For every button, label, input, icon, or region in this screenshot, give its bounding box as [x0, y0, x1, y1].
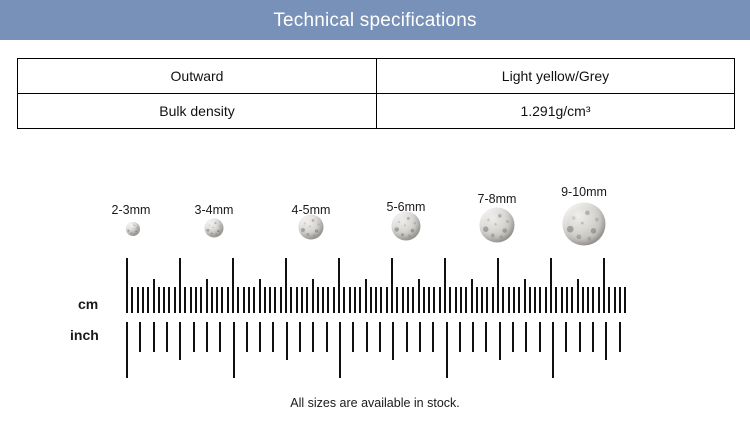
- ruler-tick-cm: [418, 279, 420, 313]
- table-row: Outward Light yellow/Grey: [18, 59, 735, 94]
- ruler-tick-cm: [513, 287, 515, 313]
- ruler-tick-inch: [472, 322, 474, 352]
- ruler-tick-cm: [190, 287, 192, 313]
- spec-label-bulk-density: Bulk density: [18, 94, 377, 129]
- ruler-tick-cm: [338, 258, 340, 313]
- ruler-tick-cm: [455, 287, 457, 313]
- ruler-tick-cm: [375, 287, 377, 313]
- ruler-tick-cm: [550, 258, 552, 313]
- ruler-tick-cm: [412, 287, 414, 313]
- ruler-tick-cm: [248, 287, 250, 313]
- ruler-tick-cm: [571, 287, 573, 313]
- spec-label-outward: Outward: [18, 59, 377, 94]
- ruler-unit-label-inch: inch: [70, 328, 99, 342]
- spec-value-bulk-density: 1.291g/cm³: [377, 94, 735, 129]
- ruler-tick-cm: [206, 279, 208, 313]
- ruler-tick-cm: [232, 258, 234, 313]
- ruler-tick-cm: [555, 287, 557, 313]
- table-row: Bulk density 1.291g/cm³: [18, 94, 735, 129]
- ruler-tick-cm: [322, 287, 324, 313]
- ruler-tick-inch: [485, 322, 487, 352]
- ruler-tick-cm: [179, 258, 181, 313]
- ruler-tick-cm: [158, 287, 160, 313]
- ruler-tick-inch: [565, 322, 567, 352]
- ruler-tick-cm: [444, 258, 446, 313]
- ruler-tick-inch: [605, 322, 607, 360]
- ruler-tick-cm: [433, 287, 435, 313]
- ruler-tick-cm: [211, 287, 213, 313]
- ruler-tick-cm: [428, 287, 430, 313]
- ruler-tick-cm: [253, 287, 255, 313]
- ruler-tick-cm: [492, 287, 494, 313]
- ruler-tick-cm: [423, 287, 425, 313]
- ruler-tick-cm: [476, 287, 478, 313]
- ruler-tick-cm: [407, 287, 409, 313]
- ruler-tick-cm: [184, 287, 186, 313]
- ruler-tick-cm: [449, 287, 451, 313]
- figure-caption: All sizes are available in stock.: [0, 396, 750, 410]
- ruler-tick-inch: [459, 322, 461, 352]
- ruler-tick-inch: [272, 322, 274, 352]
- ruler-tick-inch: [219, 322, 221, 352]
- ruler-tick-cm: [614, 287, 616, 313]
- ruler-tick-cm: [163, 287, 165, 313]
- ruler-tick-inch: [419, 322, 421, 352]
- ruler-tick-cm: [497, 258, 499, 313]
- ruler-tick-inch: [246, 322, 248, 352]
- ruler-tick-cm: [264, 287, 266, 313]
- ruler-tick-inch: [299, 322, 301, 352]
- ruler-tick-cm: [126, 258, 128, 313]
- ruler-tick-cm: [439, 287, 441, 313]
- spec-value-outward: Light yellow/Grey: [377, 59, 735, 94]
- ruler-tick-cm: [147, 287, 149, 313]
- ruler-tick-inch: [153, 322, 155, 352]
- ruler-tick-inch: [525, 322, 527, 352]
- ruler-tick-cm: [508, 287, 510, 313]
- ruler-tick-cm: [545, 287, 547, 313]
- ruler-tick-inch: [579, 322, 581, 352]
- ruler-tick-cm: [296, 287, 298, 313]
- ruler-tick-cm: [359, 287, 361, 313]
- page-header: Technical specifications: [0, 0, 750, 40]
- ruler-tick-cm: [327, 287, 329, 313]
- ruler-tick-cm: [243, 287, 245, 313]
- ruler-tick-cm: [259, 279, 261, 313]
- ruler-tick-inch: [352, 322, 354, 352]
- ruler-tick-cm: [460, 287, 462, 313]
- ruler-tick-cm: [354, 287, 356, 313]
- specifications-table-body: Outward Light yellow/Grey Bulk density 1…: [18, 59, 735, 129]
- ruler-tick-cm: [343, 287, 345, 313]
- ruler-tick-cm: [280, 287, 282, 313]
- ruler-tick-inch: [193, 322, 195, 352]
- size-comparison-figure: 2-3mm 3-4mm 4-5mm 5-6mm 7-8mm 9-10mm cm …: [0, 150, 750, 400]
- ruler-tick-inch: [379, 322, 381, 352]
- ruler-tick-cm: [317, 287, 319, 313]
- ruler-tick-cm: [174, 287, 176, 313]
- ruler-tick-cm: [619, 287, 621, 313]
- ruler-tick-cm: [471, 279, 473, 313]
- ruler-tick-inch: [312, 322, 314, 352]
- ruler-tick-cm: [529, 287, 531, 313]
- ruler-tick-cm: [365, 279, 367, 313]
- ruler-tick-cm: [518, 287, 520, 313]
- ruler-tick-cm: [269, 287, 271, 313]
- ruler-tick-inch: [512, 322, 514, 352]
- ruler-tick-cm: [380, 287, 382, 313]
- ruler-tick-cm: [391, 258, 393, 313]
- ruler-tick-cm: [168, 287, 170, 313]
- ruler-tick-cm: [200, 287, 202, 313]
- ruler-tick-inch: [366, 322, 368, 352]
- ruler-unit-label-cm: cm: [78, 297, 98, 311]
- ruler-tick-cm: [285, 258, 287, 313]
- ruler-tick-inch: [139, 322, 141, 352]
- ruler-tick-inch: [166, 322, 168, 352]
- ruler-tick-inch: [259, 322, 261, 352]
- page-title: Technical specifications: [273, 11, 476, 30]
- ruler-tick-inch: [619, 322, 621, 352]
- ruler-tick-cm: [274, 287, 276, 313]
- ruler-tick-cm: [396, 287, 398, 313]
- ruler-tick-cm: [465, 287, 467, 313]
- ruler: cm inch: [0, 150, 750, 400]
- ruler-tick-cm: [603, 258, 605, 313]
- ruler-tick-inch: [233, 322, 235, 378]
- ruler-tick-cm: [137, 287, 139, 313]
- ruler-tick-cm: [539, 287, 541, 313]
- specifications-table: Outward Light yellow/Grey Bulk density 1…: [17, 58, 735, 129]
- ruler-tick-cm: [502, 287, 504, 313]
- ruler-tick-cm: [524, 279, 526, 313]
- ruler-tick-cm: [153, 279, 155, 313]
- ruler-tick-inch: [552, 322, 554, 378]
- ruler-tick-inch: [179, 322, 181, 360]
- ruler-tick-cm: [587, 287, 589, 313]
- ruler-tick-cm: [370, 287, 372, 313]
- ruler-tick-cm: [608, 287, 610, 313]
- ruler-tick-inch: [339, 322, 341, 378]
- ruler-tick-cm: [561, 287, 563, 313]
- ruler-tick-inch: [446, 322, 448, 378]
- ruler-tick-cm: [195, 287, 197, 313]
- ruler-tick-inch: [206, 322, 208, 352]
- ruler-tick-cm: [237, 287, 239, 313]
- ruler-tick-inch: [286, 322, 288, 360]
- ruler-tick-cm: [582, 287, 584, 313]
- ruler-tick-cm: [624, 287, 626, 313]
- ruler-tick-cm: [333, 287, 335, 313]
- ruler-tick-cm: [534, 287, 536, 313]
- ruler-tick-cm: [598, 287, 600, 313]
- ruler-tick-cm: [486, 287, 488, 313]
- ruler-tick-inch: [539, 322, 541, 352]
- ruler-tick-cm: [306, 287, 308, 313]
- ruler-tick-inch: [499, 322, 501, 360]
- ruler-tick-cm: [290, 287, 292, 313]
- ruler-tick-inch: [326, 322, 328, 352]
- ruler-tick-inch: [392, 322, 394, 360]
- ruler-tick-inch: [592, 322, 594, 352]
- ruler-tick-inch: [432, 322, 434, 352]
- ruler-tick-cm: [592, 287, 594, 313]
- ruler-tick-cm: [142, 287, 144, 313]
- ruler-tick-cm: [216, 287, 218, 313]
- ruler-tick-cm: [402, 287, 404, 313]
- ruler-tick-cm: [221, 287, 223, 313]
- ruler-tick-cm: [577, 279, 579, 313]
- ruler-tick-cm: [386, 287, 388, 313]
- ruler-tick-cm: [349, 287, 351, 313]
- ruler-tick-inch: [126, 322, 128, 378]
- ruler-tick-inch: [406, 322, 408, 352]
- ruler-tick-cm: [566, 287, 568, 313]
- ruler-tick-cm: [227, 287, 229, 313]
- ruler-tick-cm: [312, 279, 314, 313]
- ruler-tick-cm: [481, 287, 483, 313]
- ruler-tick-cm: [301, 287, 303, 313]
- ruler-tick-cm: [131, 287, 133, 313]
